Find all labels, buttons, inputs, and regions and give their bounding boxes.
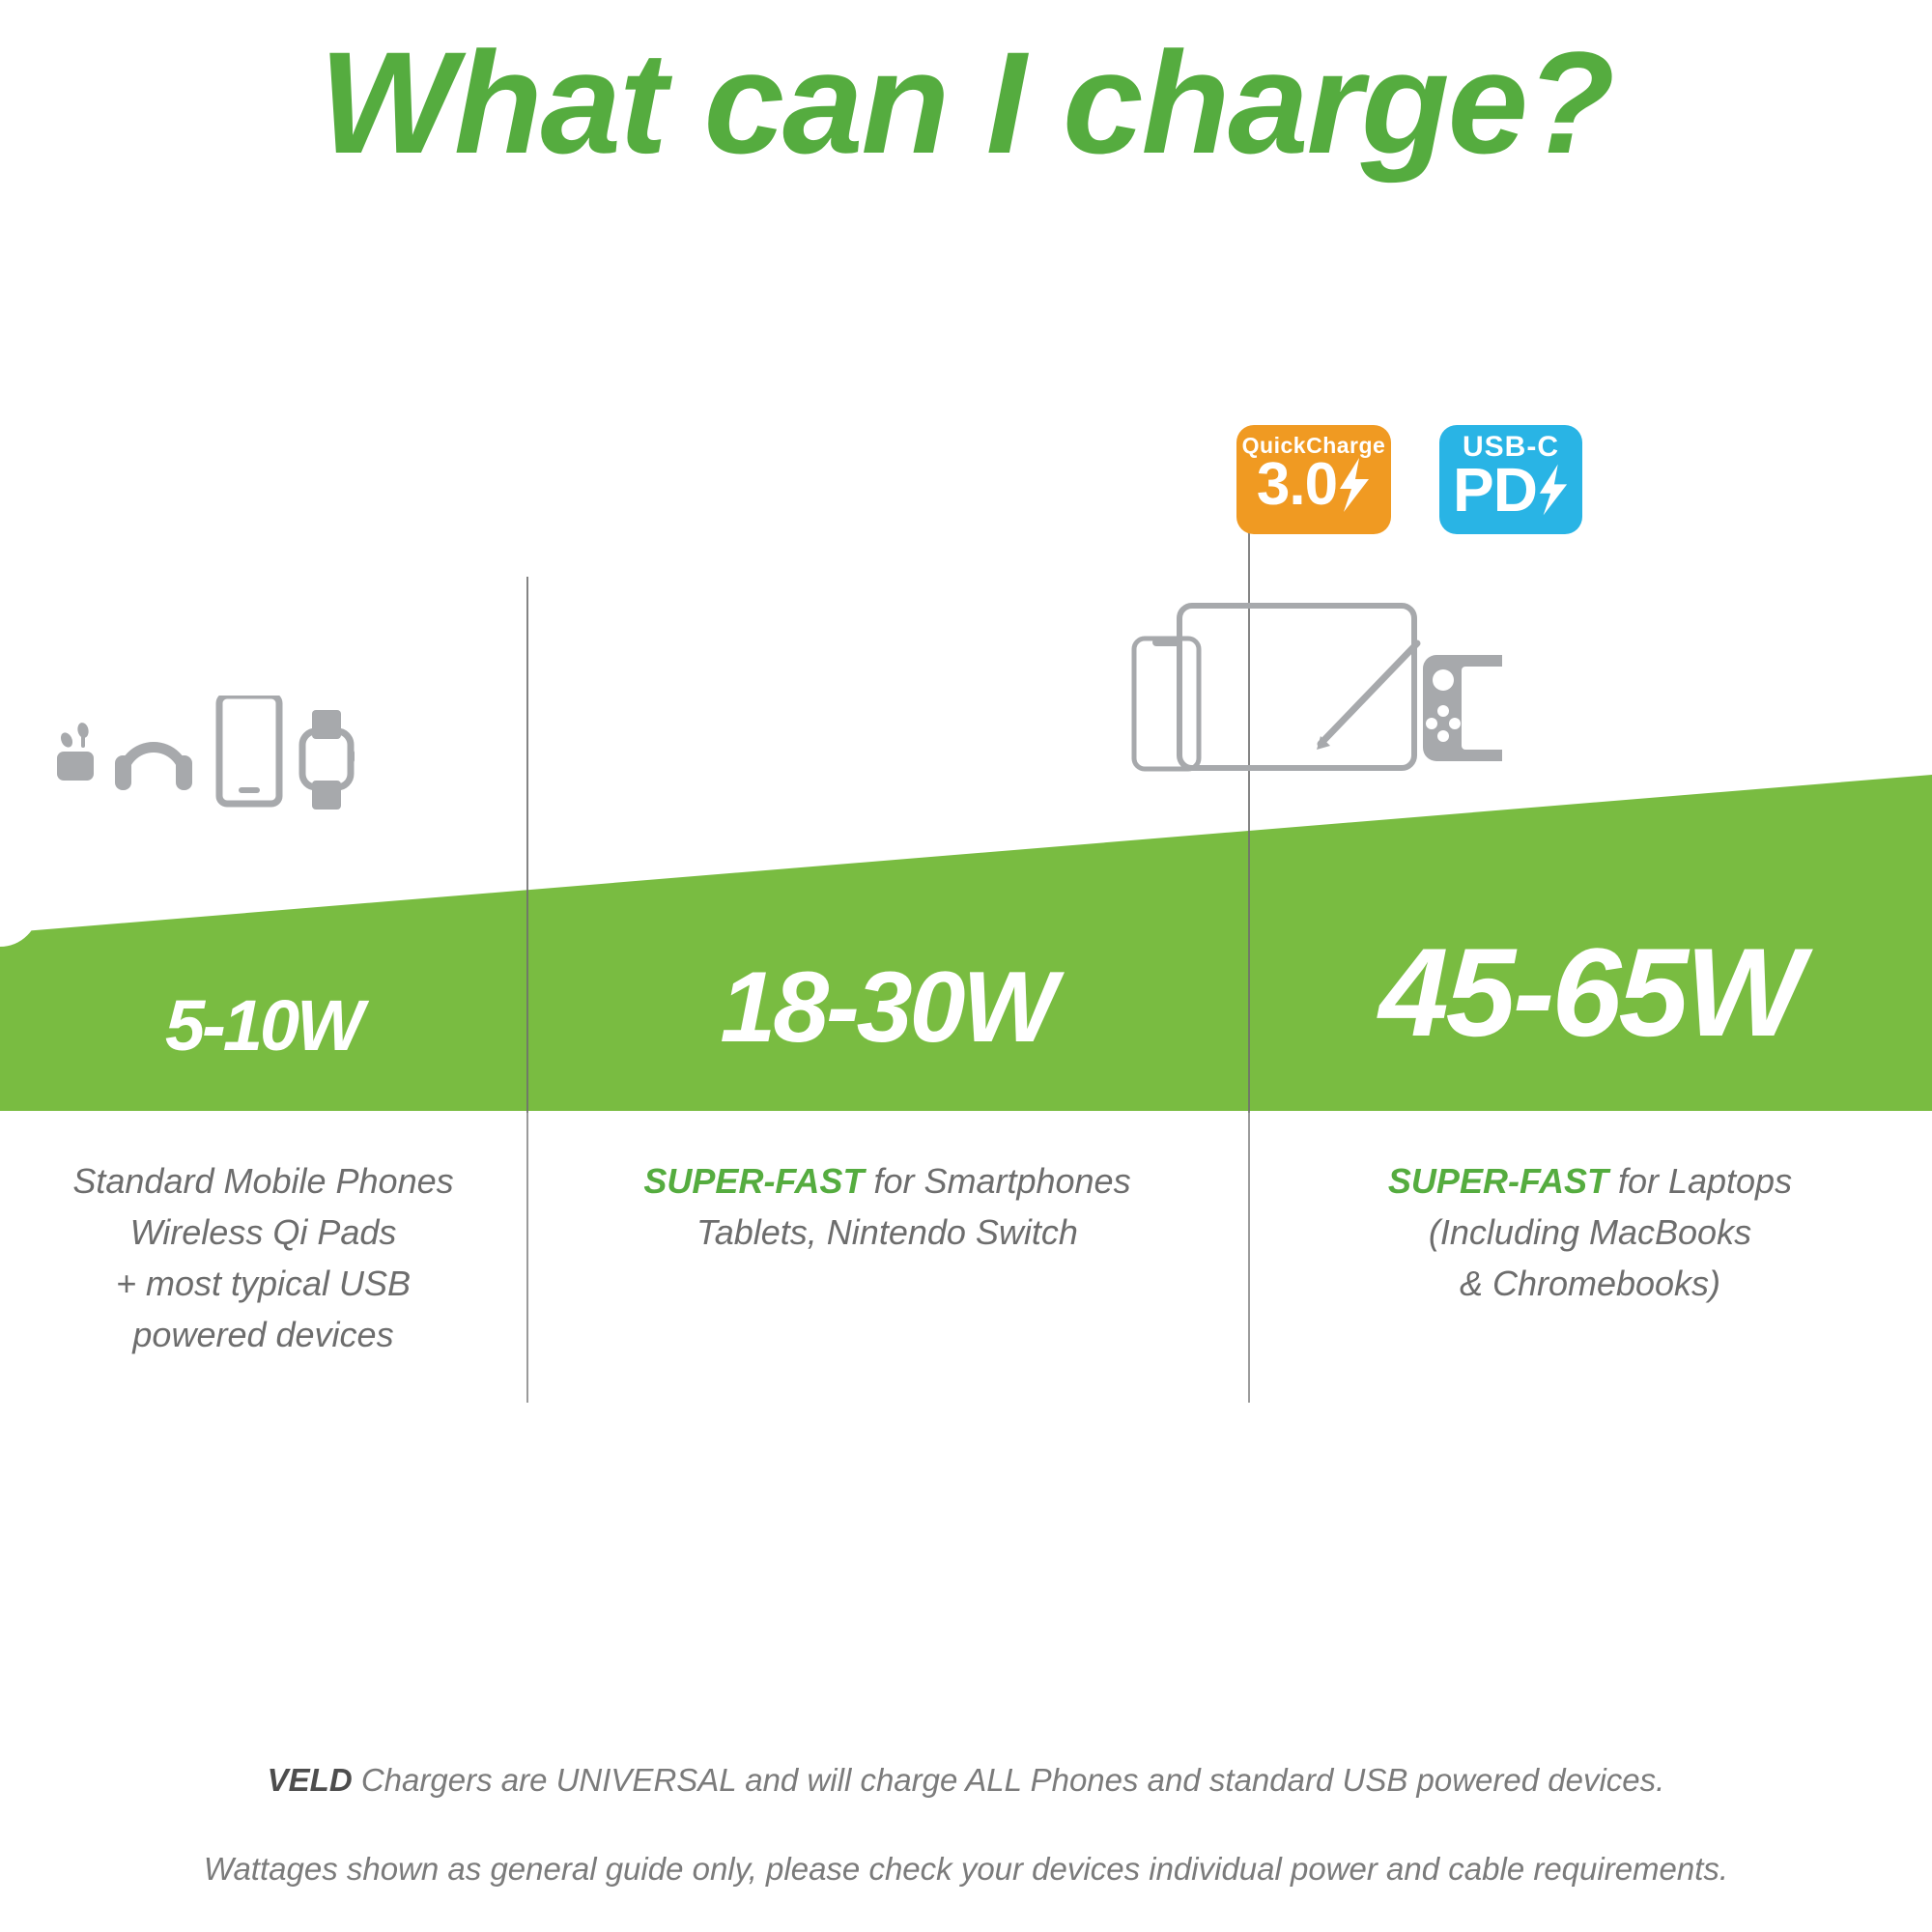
column-low-power: 5-10W Standard Mobile Phones Wireless Qi… — [0, 0, 526, 1932]
caption-highlight: SUPER-FAST — [643, 1161, 864, 1201]
device-icon-group-low — [53, 696, 372, 821]
infographic-canvas: What can I charge? — [0, 0, 1932, 1932]
caption-line: & Chromebooks) — [1248, 1258, 1932, 1309]
device-icons-low-power — [53, 696, 372, 821]
wattage-label-mid: 18-30W — [526, 952, 1248, 1064]
caption-mid-power: SUPER-FAST for Smartphones Tablets, Nint… — [526, 1155, 1248, 1258]
caption-high-power: SUPER-FAST for Laptops (Including MacBoo… — [1248, 1155, 1932, 1309]
wattage-label-high: 45-65W — [1248, 923, 1932, 1062]
headphones-icon — [115, 742, 192, 790]
footer-line-1-text: Chargers are UNIVERSAL and will charge A… — [353, 1762, 1665, 1798]
brand-name: VELD — [268, 1762, 353, 1798]
smartphone-outline-icon — [1134, 639, 1199, 769]
footer-line-2: Wattages shown as general guide only, pl… — [0, 1847, 1932, 1891]
caption-highlight: SUPER-FAST — [1388, 1161, 1608, 1201]
caption-line: Wireless Qi Pads — [0, 1207, 526, 1258]
caption-line: (Including MacBooks — [1248, 1207, 1932, 1258]
caption-line: Tablets, Nintendo Switch — [526, 1207, 1248, 1258]
caption-line: SUPER-FAST for Smartphones — [526, 1155, 1248, 1207]
column-high-power: USB-C PD 45-65W SUPER-FAST for Laptops (… — [1248, 0, 1932, 1932]
column-mid-power: QuickCharge 3.0 USB-C PD 18-30W — [526, 0, 1248, 1932]
caption-low-power: Standard Mobile Phones Wireless Qi Pads … — [0, 1155, 526, 1360]
earbuds-case-icon — [57, 722, 94, 781]
footer-line-1: VELD Chargers are UNIVERSAL and will cha… — [0, 1758, 1932, 1803]
caption-line: Standard Mobile Phones — [0, 1155, 526, 1207]
caption-line: powered devices — [0, 1309, 526, 1360]
wattage-label-low: 5-10W — [0, 985, 526, 1066]
caption-line: SUPER-FAST for Laptops — [1248, 1155, 1932, 1207]
smartwatch-icon — [302, 710, 355, 810]
smartphone-icon — [219, 696, 279, 804]
caption-line: + most typical USB — [0, 1258, 526, 1309]
